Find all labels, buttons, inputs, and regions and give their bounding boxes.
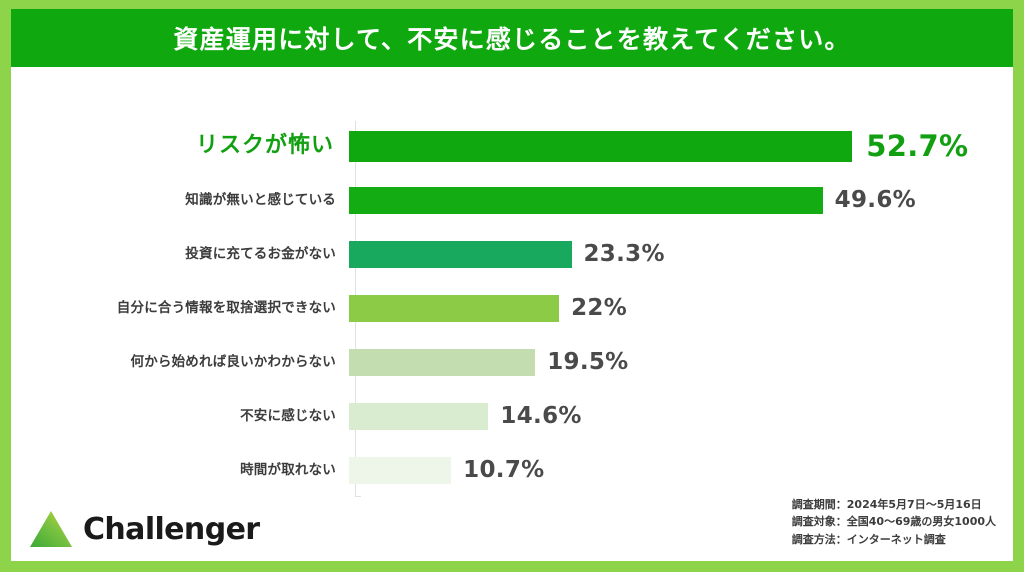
chart-row-label: 投資に充てるお金がない bbox=[11, 247, 349, 262]
chart-bar-value: 49.6% bbox=[835, 187, 916, 213]
chart-bar bbox=[349, 241, 572, 268]
chart-row: 何から始めれば良いかわからない19.5% bbox=[11, 335, 1013, 389]
triangle-logo-icon bbox=[28, 509, 74, 549]
chart-bar bbox=[349, 295, 559, 322]
chart-row: 自分に合う情報を取捨選択できない22% bbox=[11, 281, 1013, 335]
chart-row: 不安に感じない14.6% bbox=[11, 389, 1013, 443]
survey-target: 調査対象：全国40〜69歳の男女1000人 bbox=[792, 513, 996, 531]
chart-bar bbox=[349, 131, 852, 162]
page-title: 資産運用に対して、不安に感じることを教えてください。 bbox=[173, 20, 850, 56]
brand-name: Challenger bbox=[83, 512, 260, 547]
poster-frame: 資産運用に対して、不安に感じることを教えてください。 リスクが怖い52.7%知識… bbox=[0, 0, 1024, 572]
chart-bar bbox=[349, 187, 823, 214]
chart-rows: リスクが怖い52.7%知識が無いと感じている49.6%投資に充てるお金がない23… bbox=[11, 119, 1013, 497]
chart-bar-wrap: 22% bbox=[349, 281, 1013, 335]
chart-row-label: 時間が取れない bbox=[11, 463, 349, 478]
chart-bar-wrap: 23.3% bbox=[349, 227, 1013, 281]
chart-row: 投資に充てるお金がない23.3% bbox=[11, 227, 1013, 281]
chart-row-label: 不安に感じない bbox=[11, 409, 349, 424]
survey-meta: 調査期間：2024年5月7日〜5月16日 調査対象：全国40〜69歳の男女100… bbox=[792, 496, 996, 549]
chart-bar-wrap: 14.6% bbox=[349, 389, 1013, 443]
chart-row: リスクが怖い52.7% bbox=[11, 119, 1013, 173]
brand-logo: Challenger bbox=[28, 509, 260, 549]
chart-row-label: 自分に合う情報を取捨選択できない bbox=[11, 301, 349, 316]
chart-bar bbox=[349, 349, 535, 376]
chart-bar-value: 19.5% bbox=[547, 349, 628, 375]
header-bar: 資産運用に対して、不安に感じることを教えてください。 bbox=[11, 9, 1013, 67]
chart-bar-value: 23.3% bbox=[584, 241, 665, 267]
chart-bar-value: 14.6% bbox=[500, 403, 581, 429]
chart-bar-value: 52.7% bbox=[866, 129, 968, 163]
chart-row: 知識が無いと感じている49.6% bbox=[11, 173, 1013, 227]
chart-row-label: リスクが怖い bbox=[11, 134, 349, 158]
survey-method: 調査方法：インターネット調査 bbox=[792, 531, 996, 549]
chart-bar-wrap: 49.6% bbox=[349, 173, 1013, 227]
survey-period: 調査期間：2024年5月7日〜5月16日 bbox=[792, 496, 996, 514]
chart-bar bbox=[349, 457, 451, 484]
chart-bar bbox=[349, 403, 488, 430]
footer: Challenger 調査期間：2024年5月7日〜5月16日 調査対象：全国4… bbox=[11, 485, 1013, 561]
chart-bar-value: 22% bbox=[571, 295, 627, 321]
chart-bar-wrap: 52.7% bbox=[349, 119, 1013, 173]
chart-bar-wrap: 19.5% bbox=[349, 335, 1013, 389]
chart-row-label: 何から始めれば良いかわからない bbox=[11, 355, 349, 370]
chart-row-label: 知識が無いと感じている bbox=[11, 193, 349, 208]
poster-card: 資産運用に対して、不安に感じることを教えてください。 リスクが怖い52.7%知識… bbox=[11, 9, 1013, 561]
chart-bar-value: 10.7% bbox=[463, 457, 544, 483]
